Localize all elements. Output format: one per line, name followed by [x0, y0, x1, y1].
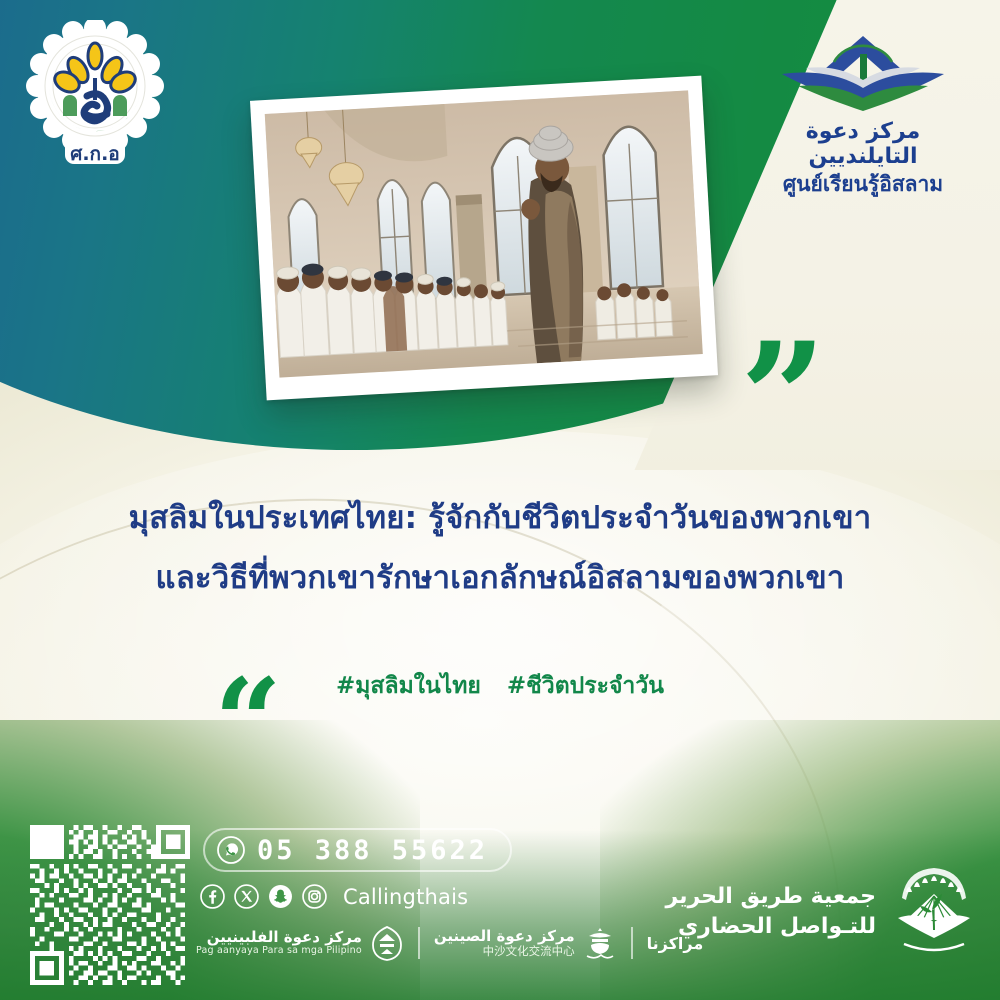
- hashtag-1[interactable]: #มุสลิมในไทย: [336, 673, 481, 699]
- qr-code[interactable]: [30, 825, 190, 985]
- social-row: Callingthais: [200, 884, 468, 909]
- sor-kor-or-emblem: ศ.ก.อ: [25, 20, 165, 170]
- hashtag-2[interactable]: #ชีวิตประจำวัน: [507, 673, 664, 699]
- partner-divider-2: [631, 927, 633, 959]
- logo-thai-name: ศูนย์เรียนรู้อิสลาม: [748, 172, 978, 197]
- org-name-line-2: للتـواصل الحضاري: [666, 912, 876, 942]
- social-handle[interactable]: Callingthais: [343, 885, 468, 909]
- emblem-caption: ศ.ก.อ: [70, 143, 119, 165]
- headline-line-2: และวิธีที่พวกเขารักษาเอกลักษณ์อิสลามของพ…: [0, 548, 1000, 608]
- partner-china: مركز دعوة الصينين 中沙文化交流中心: [434, 925, 617, 961]
- whatsapp-icon: [217, 836, 245, 864]
- phone-number: 05 388 55622: [257, 835, 488, 866]
- whatsapp-phone-pill[interactable]: 05 388 55622: [203, 828, 512, 872]
- partner-china-sub: 中沙文化交流中心: [434, 945, 575, 958]
- headline-line-1: มุสลิมในประเทศไทย: รู้จักกับชีวิตประจำวั…: [129, 500, 872, 536]
- partner-strip: مركز دعوة الفلبينيين Pag aanyaya Para sa…: [196, 925, 703, 961]
- org-name-line-1: جمعية طريق الحرير: [666, 882, 876, 912]
- partner-philippines: مركز دعوة الفلبينيين Pag aanyaya Para sa…: [196, 925, 404, 961]
- calling-thais-center-logo: مركز دعوة التايلنديين ศูนย์เรียนรู้อิสลา…: [748, 18, 978, 188]
- page-title: มุสลิมในประเทศไทย: รู้จักกับชีวิตประจำวั…: [0, 488, 1000, 609]
- partner-philippines-arabic: مركز دعوة الفلبينيين: [196, 929, 362, 946]
- instagram-icon[interactable]: [302, 884, 327, 909]
- silk-road-association: جمعية طريق الحرير للتـواصل الحضاري: [666, 862, 982, 962]
- logo-arabic-name: مركز دعوة التايلنديين: [748, 119, 978, 170]
- philippines-center-mark: [370, 925, 404, 961]
- china-center-pagoda-mark: [583, 925, 617, 961]
- x-twitter-icon[interactable]: [234, 884, 259, 909]
- partner-china-arabic: مركز دعوة الصينين: [434, 928, 575, 945]
- silk-road-association-mark: [886, 862, 982, 962]
- hashtag-row: #มุสลิมในไทย #ชีวิตประจำวัน: [0, 668, 1000, 704]
- partner-divider-1: [418, 927, 420, 959]
- poster-canvas: ศ.ก.อ مركز دعوة التايلنديين ศูนย์เรียนรู…: [0, 0, 1000, 1000]
- mosque-congregation-photo: [265, 90, 703, 377]
- facebook-icon[interactable]: [200, 884, 225, 909]
- snapchat-icon[interactable]: [268, 884, 293, 909]
- partner-philippines-sub: Pag aanyaya Para sa mga Pilipino: [196, 946, 362, 957]
- open-book-lotus-icon: [748, 18, 978, 123]
- mosque-congregation-photo-card: [250, 76, 718, 401]
